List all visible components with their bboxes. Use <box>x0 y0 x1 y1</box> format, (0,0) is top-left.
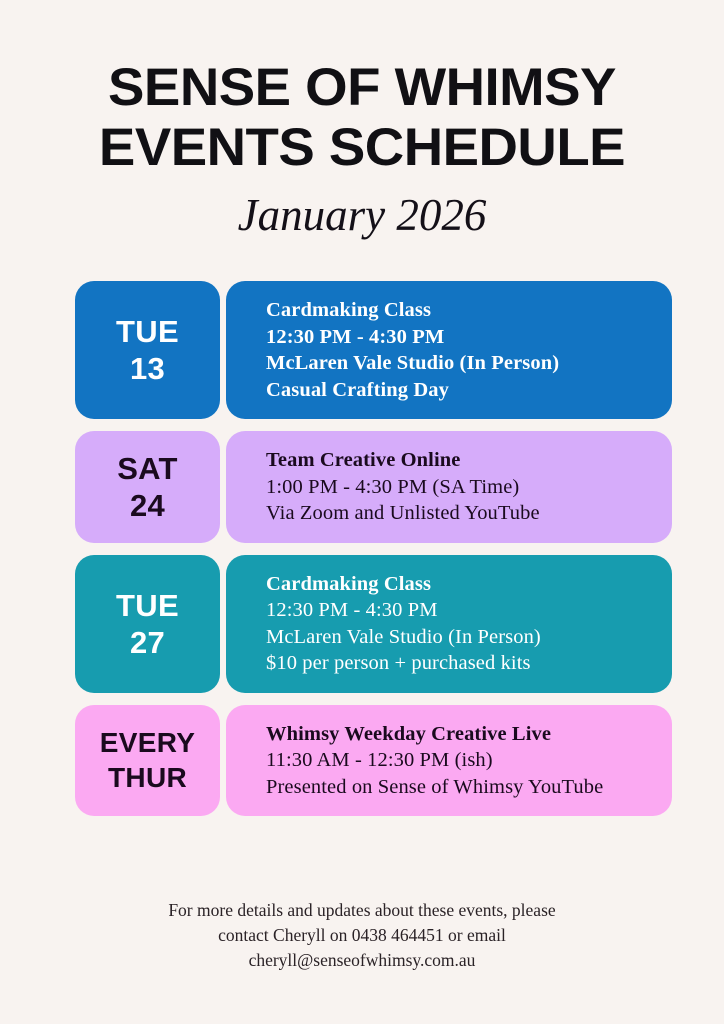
event-title: Cardmaking Class <box>266 297 672 324</box>
event-day-number: 27 <box>130 624 165 661</box>
event-detail-panel: Cardmaking Class12:30 PM - 4:30 PMMcLare… <box>226 555 672 693</box>
event-detail-panel: Cardmaking Class12:30 PM - 4:30 PMMcLare… <box>226 281 672 419</box>
event-day-of-week: TUE <box>116 587 179 624</box>
events-list: TUE13Cardmaking Class12:30 PM - 4:30 PMM… <box>75 281 672 828</box>
event-day-number: 13 <box>130 350 165 387</box>
footer-line-1: For more details and updates about these… <box>0 898 724 923</box>
poster-canvas: SENSE OF WHIMSY EVENTS SCHEDULE January … <box>0 0 724 1024</box>
event-detail-line: Presented on Sense of Whimsy YouTube <box>266 774 672 801</box>
event-title: Team Creative Online <box>266 447 672 474</box>
event-day-of-week: EVERY <box>100 725 195 760</box>
event-day-of-week: TUE <box>116 313 179 350</box>
event-date-pill: TUE27 <box>75 555 220 693</box>
event-card: SAT24Team Creative Online1:00 PM - 4:30 … <box>75 431 672 543</box>
page-title-line-2: EVENTS SCHEDULE <box>0 118 724 178</box>
event-date-pill: TUE13 <box>75 281 220 419</box>
event-detail-line: 1:00 PM - 4:30 PM (SA Time) <box>266 474 672 501</box>
event-card: TUE13Cardmaking Class12:30 PM - 4:30 PMM… <box>75 281 672 419</box>
event-detail-line: $10 per person + purchased kits <box>266 650 672 677</box>
event-detail-line: McLaren Vale Studio (In Person) <box>266 350 672 377</box>
footer-contact-email: cheryll@senseofwhimsy.com.au <box>0 948 724 973</box>
event-title: Whimsy Weekday Creative Live <box>266 721 672 748</box>
footer-line-2: contact Cheryll on 0438 464451 or email <box>0 923 724 948</box>
event-day-of-week: SAT <box>117 450 178 487</box>
poster-footer: For more details and updates about these… <box>0 898 724 973</box>
poster-header: SENSE OF WHIMSY EVENTS SCHEDULE January … <box>0 58 724 242</box>
event-card: EVERYTHURWhimsy Weekday Creative Live11:… <box>75 705 672 817</box>
event-card: TUE27Cardmaking Class12:30 PM - 4:30 PMM… <box>75 555 672 693</box>
event-day-number: 24 <box>130 487 165 524</box>
event-detail-panel: Team Creative Online1:00 PM - 4:30 PM (S… <box>226 431 672 543</box>
event-detail-line: 11:30 AM - 12:30 PM (ish) <box>266 747 672 774</box>
event-detail-panel: Whimsy Weekday Creative Live11:30 AM - 1… <box>226 705 672 817</box>
event-detail-line: McLaren Vale Studio (In Person) <box>266 624 672 651</box>
page-title-line-1: SENSE OF WHIMSY <box>0 58 724 118</box>
event-detail-line: Casual Crafting Day <box>266 377 672 404</box>
page-subtitle-month: January 2026 <box>0 188 724 242</box>
event-date-pill: EVERYTHUR <box>75 705 220 817</box>
event-title: Cardmaking Class <box>266 571 672 598</box>
event-detail-line: Via Zoom and Unlisted YouTube <box>266 500 672 527</box>
event-day-number: THUR <box>108 760 187 795</box>
event-date-pill: SAT24 <box>75 431 220 543</box>
event-detail-line: 12:30 PM - 4:30 PM <box>266 324 672 351</box>
event-detail-line: 12:30 PM - 4:30 PM <box>266 597 672 624</box>
